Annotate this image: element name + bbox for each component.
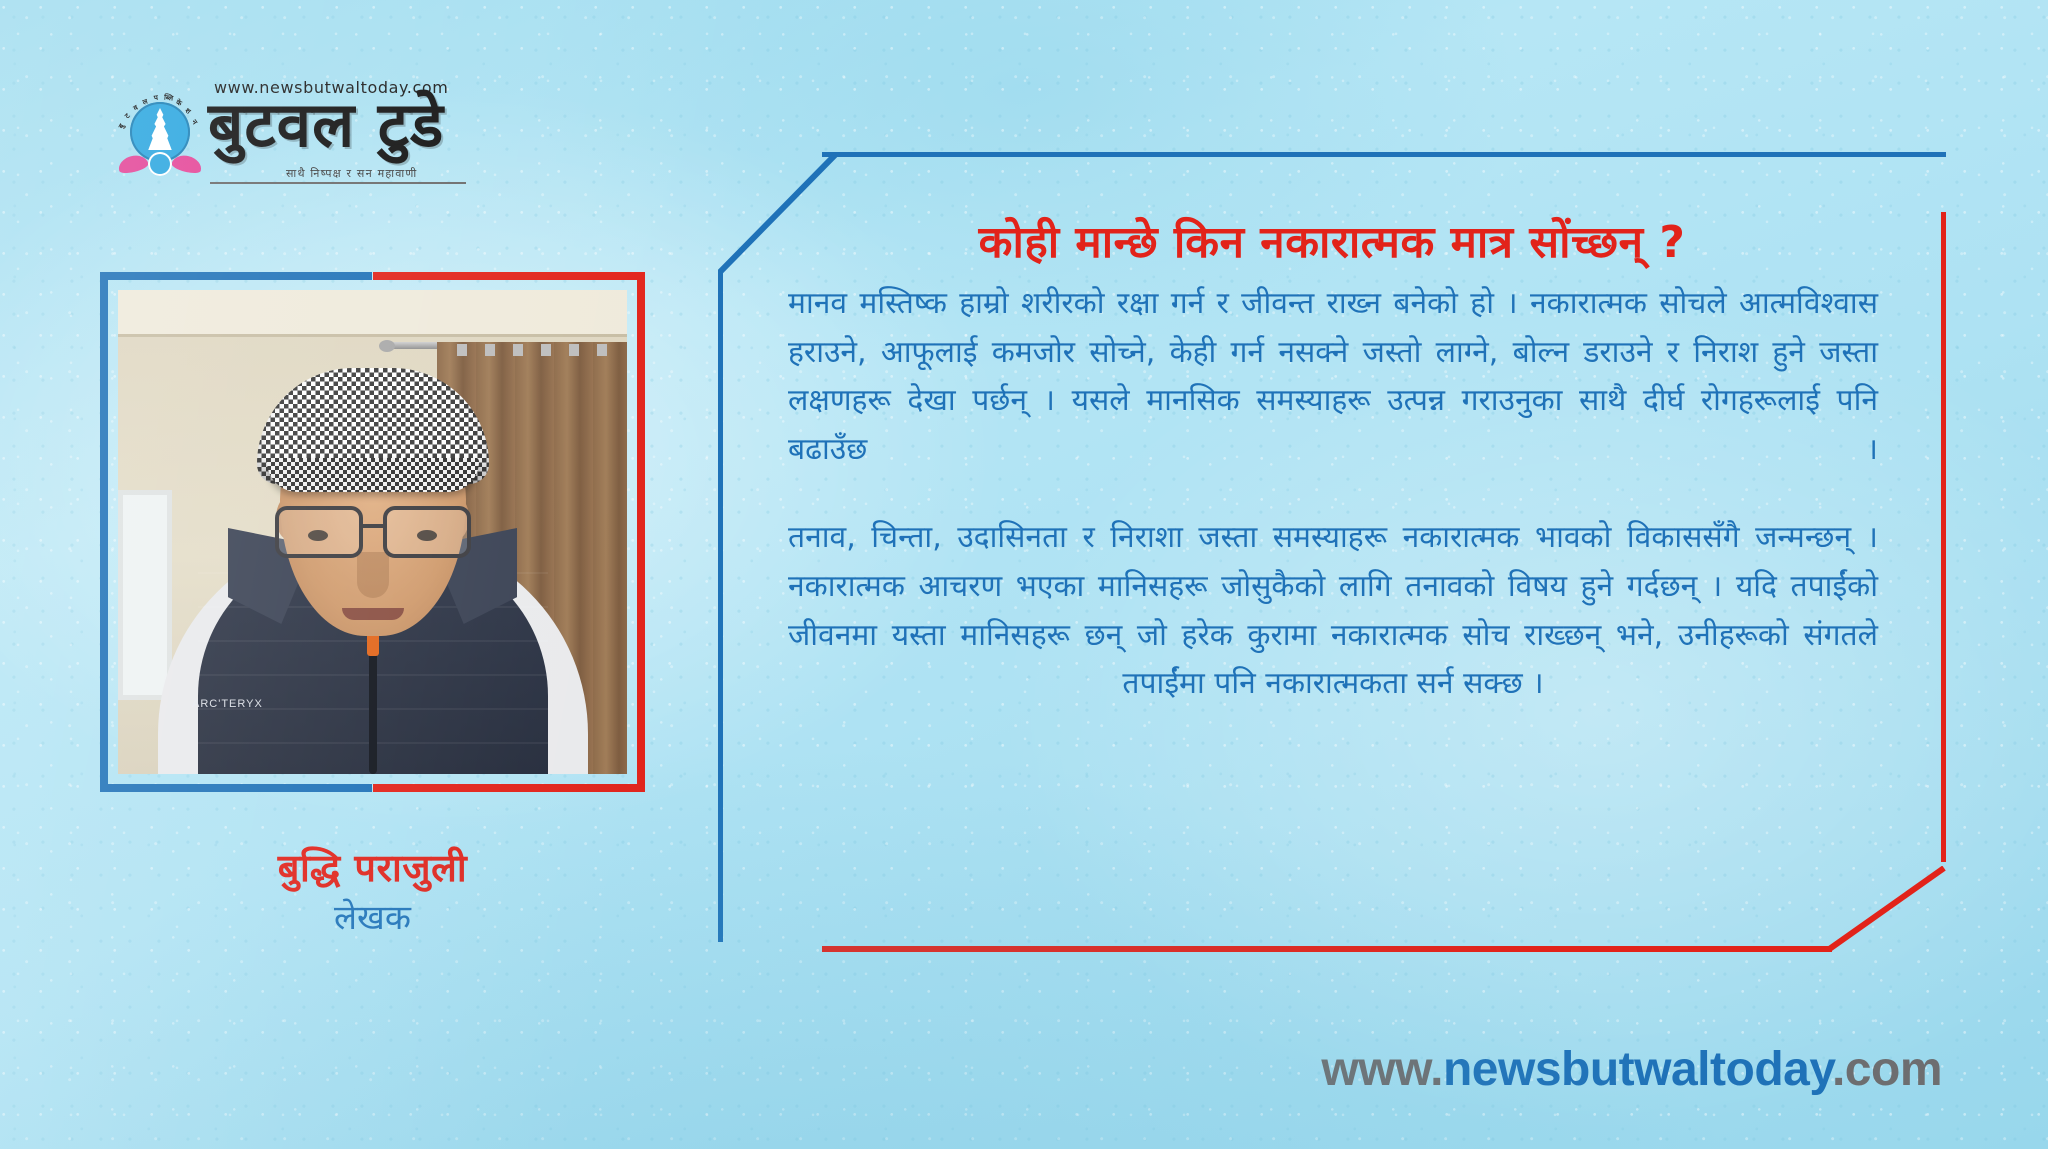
- eyeglass-lens-left: [275, 506, 363, 558]
- masthead-divider: [210, 182, 466, 184]
- portrait-mouth: [342, 608, 404, 620]
- wing-core: [148, 152, 172, 176]
- footer-url-tld: .com: [1832, 1043, 1942, 1096]
- author-role: लेखक: [100, 900, 645, 937]
- article-paragraph-1: मानव मस्तिष्क हाम्रो शरीरको रक्षा गर्न र…: [788, 280, 1878, 474]
- bracket-bottom-red: [822, 946, 1832, 952]
- wing-right: [171, 153, 204, 176]
- poster-canvas: बु ट व ल प ब्लि के श न www.newsbutwaltod…: [0, 0, 2048, 1149]
- bracket-top-blue: [822, 152, 1946, 157]
- portrait-eyeglasses: [273, 506, 473, 554]
- article-body: मानव मस्तिष्क हाम्रो शरीरको रक्षा गर्न र…: [788, 280, 1878, 749]
- emblem-wings-icon: [118, 152, 202, 178]
- wing-left: [117, 153, 150, 176]
- portrait-nose: [357, 552, 389, 598]
- footer-url-domain: newsbutwaltoday: [1443, 1043, 1832, 1096]
- bracket-right-red: [1941, 212, 1946, 862]
- article-paragraph-2: तनाव, चिन्ता, उदासिनता र निराशा जस्ता सम…: [788, 514, 1878, 708]
- portrait-cap-brim: [267, 458, 479, 492]
- publisher-emblem-icon: बु ट व ल प ब्लि के श न: [116, 92, 204, 180]
- article-panel: कोही मान्छे किन नकारात्मक मात्र सोंच्छन्…: [718, 152, 1946, 952]
- portrait-curtain-rings: [439, 344, 619, 356]
- footer-website-url[interactable]: www.newsbutwaltoday.com: [1321, 1042, 1942, 1097]
- masthead-logo: बु ट व ल प ब्लि के श न www.newsbutwaltod…: [110, 78, 470, 186]
- portrait-vest-brand-logo: ARC'TERYX: [192, 698, 263, 710]
- bracket-left-blue: [718, 270, 723, 942]
- author-portrait-image: ARC'TERYX: [118, 290, 627, 774]
- eyeglass-lens-right: [383, 506, 471, 558]
- portrait-ceiling: [118, 290, 627, 337]
- masthead-newspaper-title: बुटवल टुडे: [208, 94, 444, 156]
- portrait-curtain-rod-knob: [379, 340, 395, 352]
- masthead-tagline: साथै निष्पक्ष र सन महावाणी: [286, 166, 417, 181]
- article-headline: कोही मान्छे किन नकारात्मक मात्र सोंच्छन्…: [718, 210, 1946, 270]
- footer-url-prefix: www.: [1321, 1043, 1443, 1096]
- bracket-diagonal-red: [1826, 866, 1946, 952]
- portrait-window: [118, 490, 172, 700]
- author-photo-frame: ARC'TERYX: [100, 272, 645, 792]
- author-name: बुद्धि पराजुली: [100, 848, 645, 890]
